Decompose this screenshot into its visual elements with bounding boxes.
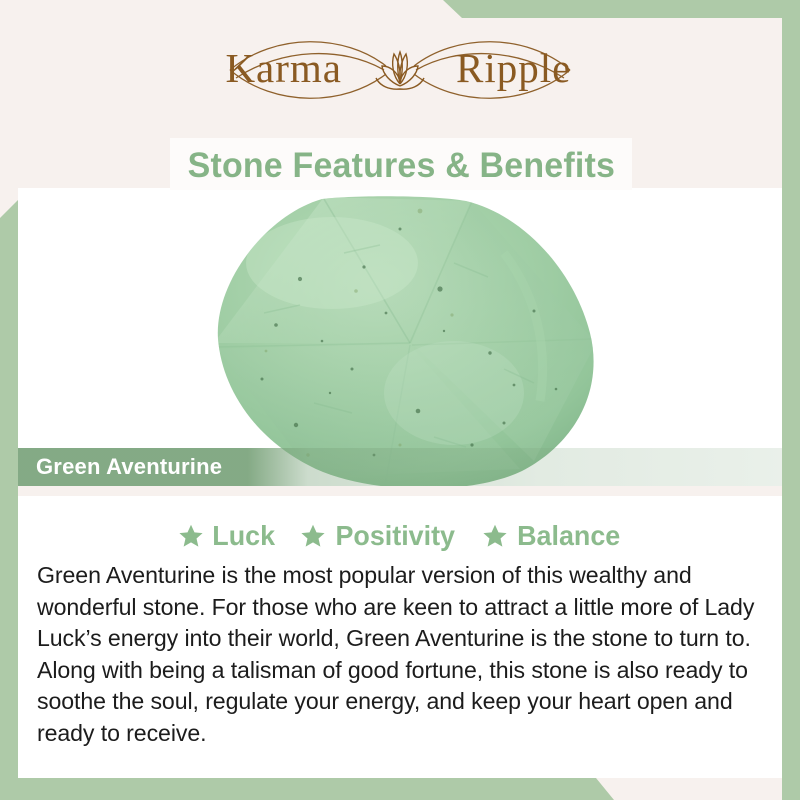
green-aventurine-stone-image xyxy=(204,193,612,486)
benefit-item-balance: Balance xyxy=(482,520,622,552)
brand-logo: Karma Ripple xyxy=(0,26,800,110)
star-icon xyxy=(300,523,326,549)
benefit-label-positivity: Positivity xyxy=(336,520,456,552)
star-icon xyxy=(482,523,508,549)
benefits-row: Luck Positivity Balance xyxy=(18,516,782,556)
brand-name-right: Ripple xyxy=(456,45,571,91)
page-title: Stone Features & Benefits xyxy=(187,146,614,186)
benefit-label-luck: Luck xyxy=(212,520,275,552)
lotus-icon xyxy=(376,52,424,89)
cream-divider-strip xyxy=(18,486,782,496)
benefit-item-luck: Luck xyxy=(178,520,276,552)
stone-body xyxy=(204,193,612,486)
stone-description: Green Aventurine is the most popular ver… xyxy=(37,560,756,749)
stone-name-band: Green Aventurine xyxy=(18,448,782,486)
stone-photo xyxy=(18,190,782,486)
benefit-item-positivity: Positivity xyxy=(300,520,457,552)
stone-name-label: Green Aventurine xyxy=(36,454,222,480)
section-title-box: Stone Features & Benefits xyxy=(170,138,632,194)
infographic-page: Karma Ripple Stone Features & Benefits xyxy=(0,0,800,800)
brand-name-left: Karma xyxy=(225,45,342,91)
green-border-left xyxy=(0,200,18,800)
green-border-right xyxy=(782,0,800,800)
logo-artwork: Karma Ripple xyxy=(190,26,610,110)
benefit-label-balance: Balance xyxy=(517,520,620,552)
star-icon xyxy=(178,523,204,549)
